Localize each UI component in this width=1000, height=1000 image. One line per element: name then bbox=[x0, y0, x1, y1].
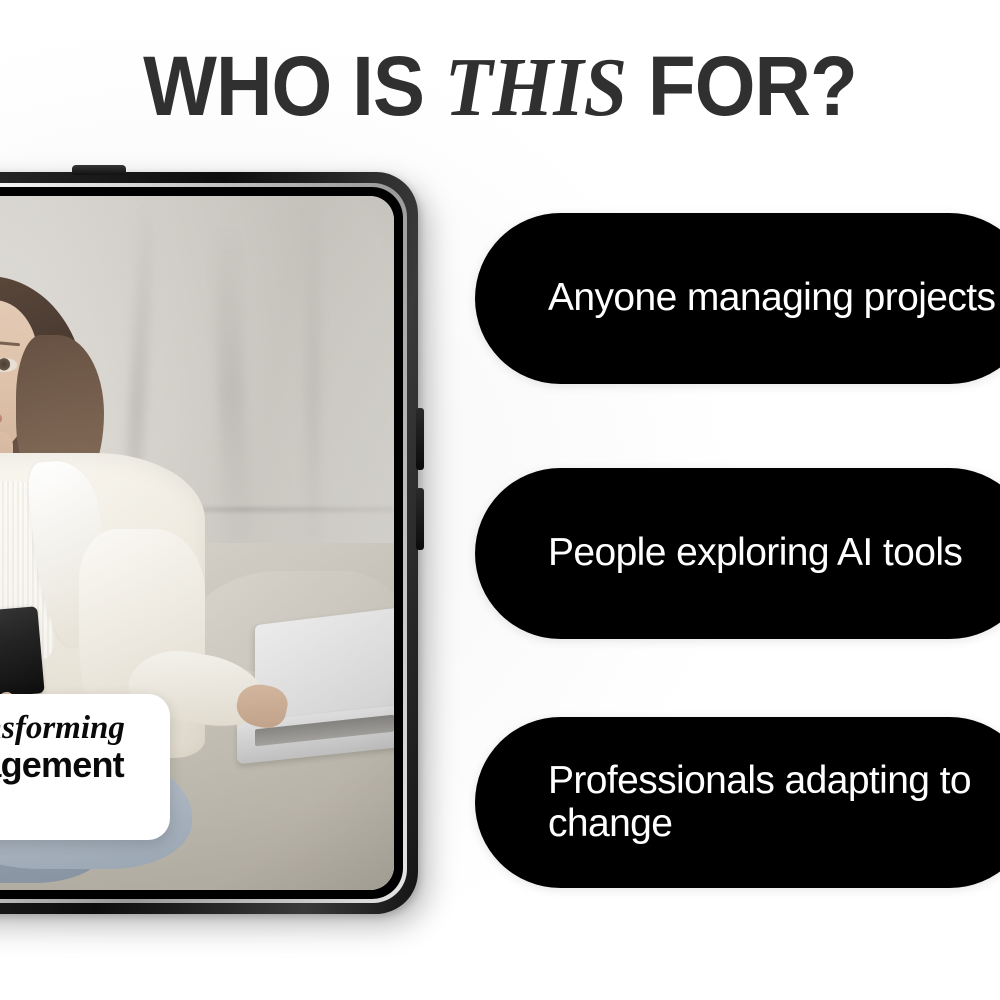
page-title-part1: WHO IS bbox=[143, 39, 445, 133]
wall-texture-streak bbox=[212, 223, 250, 557]
caption-line-2: Project Management bbox=[0, 746, 150, 784]
caption-line-3: Jobs bbox=[0, 786, 150, 820]
tablet-device: How AI Is Transforming Project Managemen… bbox=[0, 172, 418, 914]
page-title-part2: FOR? bbox=[627, 39, 857, 133]
audience-pill-1-label: Anyone managing projects bbox=[548, 277, 995, 319]
audience-pill-2-label: People exploring AI tools bbox=[548, 532, 962, 574]
slide-canvas: WHO IS THIS FOR? bbox=[0, 0, 1000, 1000]
caption-line-1-italic: Is Transforming bbox=[0, 710, 125, 746]
audience-pill-3-label: Professionals adapting to change bbox=[548, 760, 1000, 844]
audience-pill-3[interactable]: Professionals adapting to change bbox=[475, 717, 1000, 888]
wall-texture-streak bbox=[306, 196, 320, 578]
power-button-icon[interactable] bbox=[72, 165, 126, 175]
smartphone bbox=[0, 606, 45, 698]
audience-pill-2[interactable]: People exploring AI tools bbox=[475, 468, 1000, 639]
caption-line-1: How AI Is Transforming bbox=[0, 710, 150, 746]
caption-card: How AI Is Transforming Project Managemen… bbox=[0, 694, 170, 840]
volume-up-button-icon[interactable] bbox=[416, 408, 424, 470]
tablet-metal-frame: How AI Is Transforming Project Managemen… bbox=[0, 183, 407, 903]
tablet-bezel: How AI Is Transforming Project Managemen… bbox=[0, 187, 403, 899]
audience-pill-1[interactable]: Anyone managing projects bbox=[475, 213, 1000, 384]
page-title: WHO IS THIS FOR? bbox=[35, 44, 965, 130]
volume-down-button-icon[interactable] bbox=[416, 488, 424, 550]
page-title-emphasis: THIS bbox=[445, 41, 627, 134]
tablet-screen[interactable]: How AI Is Transforming Project Managemen… bbox=[0, 196, 394, 890]
